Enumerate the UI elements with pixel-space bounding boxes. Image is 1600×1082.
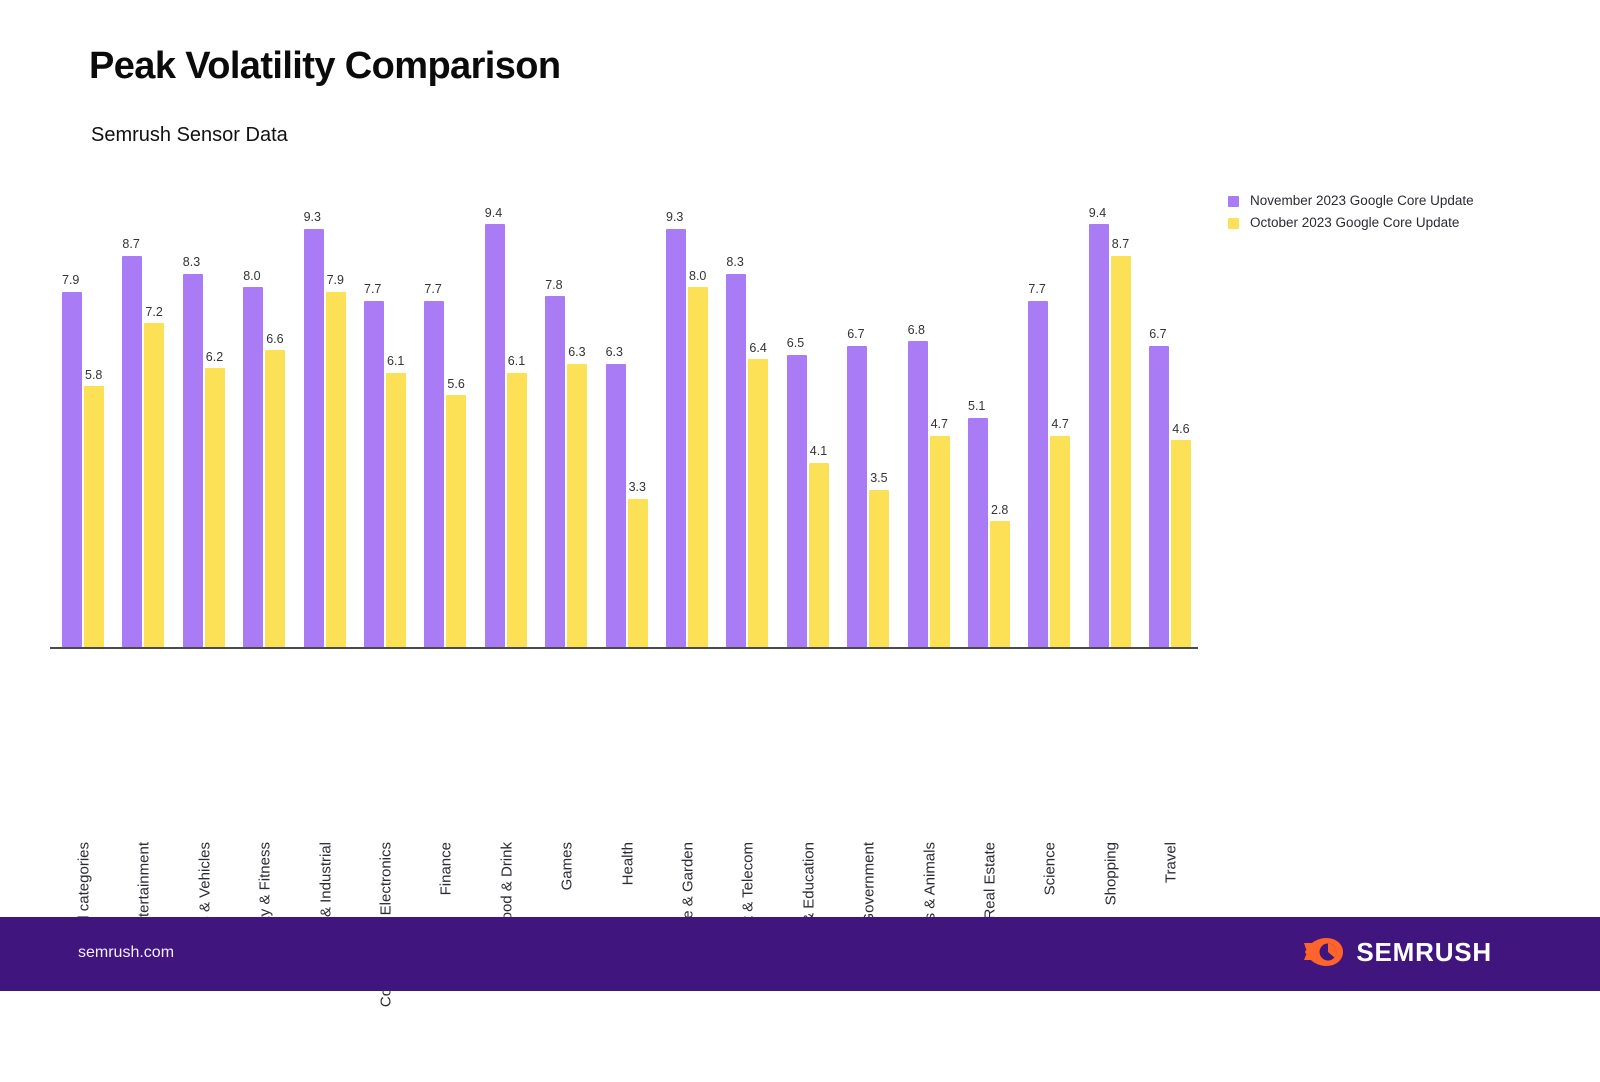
bar-group: 8.77.2 [122, 192, 166, 647]
bar-oct: 6.4 [748, 359, 768, 647]
bar-oct: 7.9 [326, 292, 346, 648]
bar-value-label: 6.4 [749, 342, 766, 355]
bar-nov: 7.7 [424, 301, 444, 648]
bar-oct: 4.7 [1050, 436, 1070, 648]
bar-group: 9.38.0 [666, 192, 710, 647]
bar-value-label: 6.3 [568, 346, 585, 359]
bar-oct: 8.7 [1111, 256, 1131, 648]
bar-value-label: 7.2 [145, 306, 162, 319]
bar-value-label: 6.8 [908, 324, 925, 337]
bar-value-label: 6.6 [266, 333, 283, 346]
bar-group: 7.75.6 [424, 192, 468, 647]
bar-group: 6.33.3 [606, 192, 650, 647]
bar-value-label: 5.6 [447, 378, 464, 391]
bar-oct: 2.8 [990, 521, 1010, 647]
bar-group: 8.36.4 [726, 192, 770, 647]
legend-swatch-october [1228, 218, 1239, 229]
bar-oct: 6.6 [265, 350, 285, 647]
bar-chart-plot-area: 7.95.88.77.28.36.28.06.69.37.97.76.17.75… [50, 190, 1200, 650]
bar-nov: 5.1 [968, 418, 988, 648]
footer-bar: semrush.com SEMRUSH [0, 917, 1600, 991]
bar-group: 9.46.1 [485, 192, 529, 647]
bar-value-label: 6.7 [1149, 328, 1166, 341]
bar-value-label: 4.6 [1172, 423, 1189, 436]
page-title: Peak Volatility Comparison [89, 45, 561, 88]
bar-oct: 6.3 [567, 364, 587, 648]
bar-group: 7.76.1 [364, 192, 408, 647]
bar-value-label: 9.3 [304, 211, 321, 224]
legend-label-october: October 2023 Google Core Update [1250, 215, 1459, 231]
legend-item-november: November 2023 Google Core Update [1228, 193, 1474, 209]
bar-oct: 3.5 [869, 490, 889, 648]
bar-group: 8.06.6 [243, 192, 287, 647]
bar-oct: 4.6 [1171, 440, 1191, 647]
legend-swatch-november [1228, 196, 1239, 207]
footer-url: semrush.com [78, 944, 174, 962]
bar-group: 5.12.8 [968, 192, 1012, 647]
bar-value-label: 6.7 [847, 328, 864, 341]
bar-oct: 3.3 [628, 499, 648, 648]
bar-value-label: 4.7 [1051, 418, 1068, 431]
bar-value-label: 6.1 [508, 355, 525, 368]
bar-value-label: 4.1 [810, 445, 827, 458]
bar-value-label: 9.3 [666, 211, 683, 224]
bar-oct: 5.6 [446, 395, 466, 647]
chart-subtitle: Semrush Sensor Data [91, 124, 288, 147]
legend-label-november: November 2023 Google Core Update [1250, 193, 1474, 209]
bar-nov: 8.3 [183, 274, 203, 648]
x-axis-label: Travel [1164, 842, 1179, 883]
bar-group: 7.86.3 [545, 192, 589, 647]
bar-nov: 7.8 [545, 296, 565, 647]
bar-value-label: 8.7 [122, 238, 139, 251]
bar-value-label: 7.7 [1028, 283, 1045, 296]
x-axis-label: Real Estate [983, 842, 998, 920]
bar-nov: 8.7 [122, 256, 142, 648]
bar-value-label: 7.7 [364, 283, 381, 296]
bar-value-label: 7.9 [327, 274, 344, 287]
bar-group: 7.95.8 [62, 192, 106, 647]
bar-value-label: 8.3 [183, 256, 200, 269]
bar-nov: 7.9 [62, 292, 82, 648]
x-axis-label: Health [620, 842, 635, 885]
bar-value-label: 7.9 [62, 274, 79, 287]
bar-value-label: 4.7 [931, 418, 948, 431]
bar-value-label: 2.8 [991, 504, 1008, 517]
bar-nov: 6.3 [606, 364, 626, 648]
x-axis-line [50, 647, 1198, 649]
bar-value-label: 6.3 [606, 346, 623, 359]
bar-value-label: 3.5 [870, 472, 887, 485]
x-axis-label: Science [1043, 842, 1058, 895]
x-axis-label: Finance [439, 842, 454, 895]
bar-oct: 4.7 [930, 436, 950, 648]
bar-nov: 8.3 [726, 274, 746, 648]
legend-item-october: October 2023 Google Core Update [1228, 215, 1474, 231]
bar-nov: 6.7 [1149, 346, 1169, 648]
bar-oct: 8.0 [688, 287, 708, 647]
bar-nov: 9.3 [304, 229, 324, 648]
bar-value-label: 3.3 [629, 481, 646, 494]
bar-value-label: 5.8 [85, 369, 102, 382]
bar-value-label: 8.0 [689, 270, 706, 283]
bar-oct: 7.2 [144, 323, 164, 647]
bar-value-label: 6.5 [787, 337, 804, 350]
bar-oct: 6.1 [386, 373, 406, 648]
bar-group: 6.73.5 [847, 192, 891, 647]
bar-group: 6.54.1 [787, 192, 831, 647]
bar-nov: 9.3 [666, 229, 686, 648]
bar-value-label: 6.1 [387, 355, 404, 368]
bar-value-label: 5.1 [968, 400, 985, 413]
semrush-logo: SEMRUSH [1304, 935, 1492, 969]
bar-group: 7.74.7 [1028, 192, 1072, 647]
bar-nov: 6.8 [908, 341, 928, 647]
bar-group: 8.36.2 [183, 192, 227, 647]
bar-group: 9.48.7 [1089, 192, 1133, 647]
bar-group: 6.74.6 [1149, 192, 1193, 647]
bar-oct: 4.1 [809, 463, 829, 648]
bar-value-label: 8.3 [726, 256, 743, 269]
bar-nov: 8.0 [243, 287, 263, 647]
x-axis-label: Games [560, 842, 575, 890]
x-axis-label: Shopping [1103, 842, 1118, 905]
bar-nov: 6.5 [787, 355, 807, 648]
bar-nov: 9.4 [485, 224, 505, 647]
bar-value-label: 9.4 [485, 207, 502, 220]
bar-nov: 7.7 [1028, 301, 1048, 648]
bar-value-label: 8.0 [243, 270, 260, 283]
bar-oct: 6.2 [205, 368, 225, 647]
bar-oct: 5.8 [84, 386, 104, 647]
semrush-comet-icon [1304, 935, 1344, 969]
bar-group: 6.84.7 [908, 192, 952, 647]
bar-value-label: 7.7 [424, 283, 441, 296]
bar-oct: 6.1 [507, 373, 527, 648]
bar-nov: 6.7 [847, 346, 867, 648]
bar-value-label: 7.8 [545, 279, 562, 292]
semrush-wordmark: SEMRUSH [1356, 937, 1492, 968]
bar-nov: 7.7 [364, 301, 384, 648]
chart-legend: November 2023 Google Core Update October… [1228, 193, 1474, 231]
bar-value-label: 9.4 [1089, 207, 1106, 220]
bar-group: 9.37.9 [304, 192, 348, 647]
bar-value-label: 8.7 [1112, 238, 1129, 251]
bar-value-label: 6.2 [206, 351, 223, 364]
bar-nov: 9.4 [1089, 224, 1109, 647]
